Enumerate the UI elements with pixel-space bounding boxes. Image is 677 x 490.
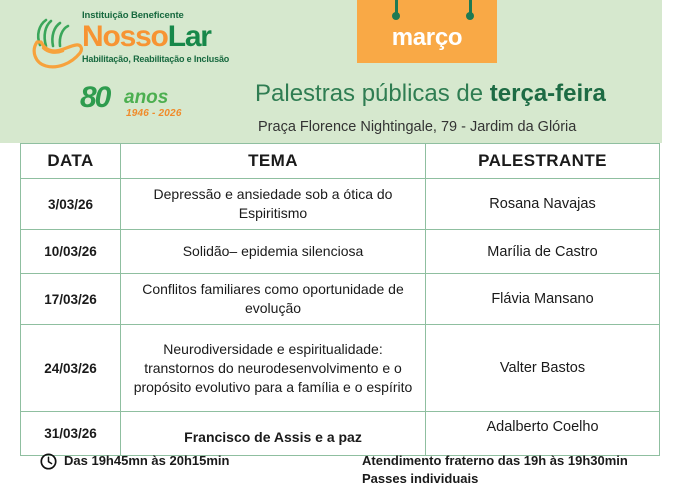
table-row: 10/03/26 Solidão– epidemia silenciosa Ma… [21,230,660,274]
cell-speaker: Rosana Navajas [426,179,660,230]
palestras-poster: Instituição Beneficente NossoLar Habilit… [0,0,677,490]
cell-theme: Depressão e ansiedade sob a ótica do Esp… [121,179,426,230]
nosso-lar-logo: Instituição Beneficente NossoLar Habilit… [30,10,240,128]
footer-service-line-1: Atendimento fraterno das 19h às 19h30min [362,452,628,470]
schedule-table: DATA TEMA PALESTRANTE 3/03/26 Depressão … [20,143,660,456]
table-header-row: DATA TEMA PALESTRANTE [21,144,660,179]
logo-text-column: Instituição Beneficente NossoLar Habilit… [82,10,242,65]
footer-service-group: Atendimento fraterno das 19h às 19h30min… [362,452,628,488]
cell-speaker: Flávia Mansano [426,274,660,325]
cell-date: 10/03/26 [21,230,121,274]
month-label: março [357,24,497,52]
cell-speaker: Marília de Castro [426,230,660,274]
footer: Das 19h45mn às 20h15min Atendimento frat… [0,452,677,490]
month-banner: março [357,0,497,63]
cell-date: 3/03/26 [21,179,121,230]
table-row: 24/03/26 Neurodiversidade e espiritualid… [21,325,660,412]
footer-service-line-2: Passes individuais [362,470,628,488]
table-body: 3/03/26 Depressão e ansiedade sob a ótic… [21,179,660,456]
logo-tagline: Habilitação, Reabilitação e Inclusão [82,54,242,65]
cell-speaker: Adalberto Coelho [426,412,660,456]
column-header-date: DATA [21,144,121,179]
column-header-speaker: PALESTRANTE [426,144,660,179]
table-head: DATA TEMA PALESTRANTE [21,144,660,179]
cell-theme: Francisco de Assis e a paz [121,412,426,456]
logo-brand-line: NossoLar [82,21,242,53]
hand-leaf-icon [30,15,88,69]
logo-brand-first: Nosso [82,20,168,53]
anniversary-years: 1946 - 2026 [126,108,182,119]
anniversary-number: 80 [80,82,109,114]
calendar-ring-icon-left [395,0,398,17]
cell-theme: Neurodiversidade e espiritualidade: tran… [121,325,426,412]
cell-date: 17/03/26 [21,274,121,325]
clock-icon [40,453,57,470]
column-header-theme: TEMA [121,144,426,179]
logo-primary-row: Instituição Beneficente NossoLar Habilit… [30,10,240,76]
table-row: 3/03/26 Depressão e ansiedade sob a ótic… [21,179,660,230]
logo-brand-second: Lar [168,20,211,53]
cell-date: 31/03/26 [21,412,121,456]
cell-date: 24/03/26 [21,325,121,412]
calendar-ring-icon-right [469,0,472,17]
page-title-highlight: terça-feira [490,80,606,107]
cell-theme: Conflitos familiares como oportunidade d… [121,274,426,325]
table-row: 31/03/26 Francisco de Assis e a paz Adal… [21,412,660,456]
footer-schedule-group: Das 19h45mn às 20h15min [40,452,229,470]
cell-theme: Solidão– epidemia silenciosa [121,230,426,274]
table-row: 17/03/26 Conflitos familiares como oport… [21,274,660,325]
anniversary-badge: 80 anos 1946 - 2026 [80,80,200,124]
page-title: Palestras públicas de terça-feira [255,80,655,108]
venue-address: Praça Florence Nightingale, 79 - Jardim … [258,118,658,136]
anniversary-word: anos [124,87,168,108]
page-title-prefix: Palestras públicas de [255,80,490,107]
cell-speaker: Valter Bastos [426,325,660,412]
footer-schedule-text: Das 19h45mn às 20h15min [64,452,229,470]
